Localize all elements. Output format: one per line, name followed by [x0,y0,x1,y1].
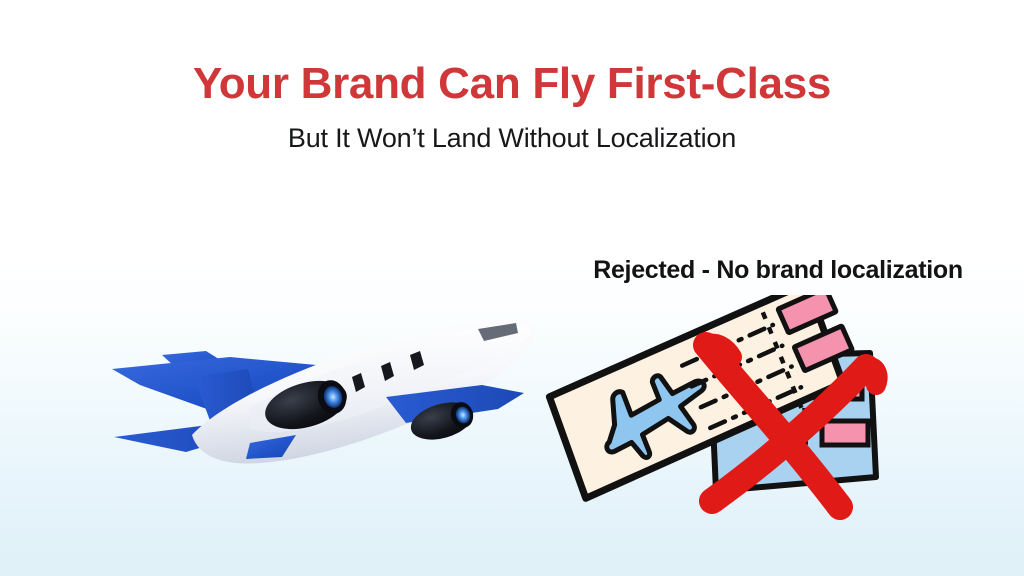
page-subtitle: But It Won’t Land Without Localization [0,120,1024,156]
airplane-illustration [100,285,540,485]
rejected-caption: Rejected - No brand localization [573,255,983,285]
ticket-back-stub-2 [822,421,868,445]
page-title: Your Brand Can Fly First-Class [0,58,1024,110]
slide-canvas: Your Brand Can Fly First-Class But It Wo… [0,0,1024,576]
boarding-pass-illustration [540,295,900,540]
